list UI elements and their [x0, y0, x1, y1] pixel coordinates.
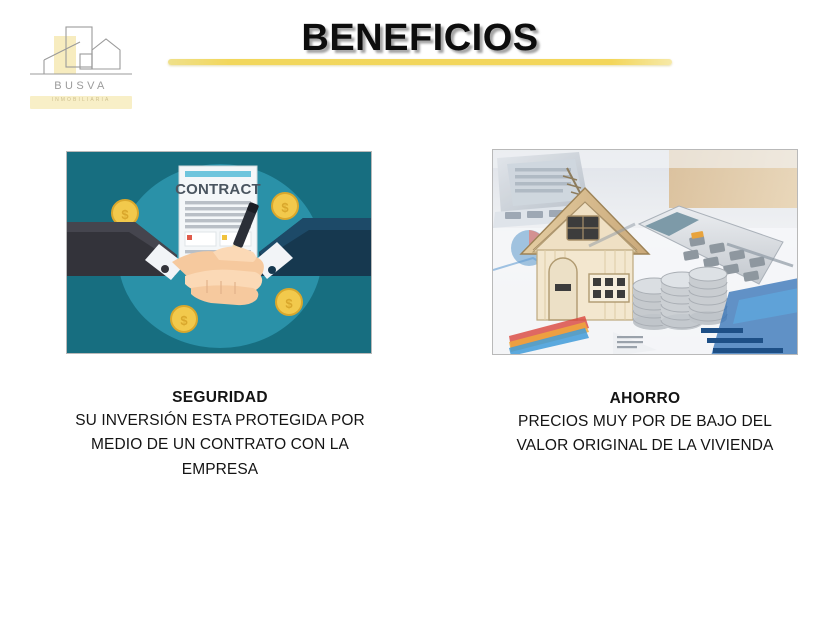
page-title: BENEFICIOS	[0, 17, 840, 60]
benefit-card-seguridad: CONTRACT	[40, 151, 400, 482]
slide-canvas: BUSVA INMOBILIARIA BENEFICIOS CONTRACT	[0, 0, 840, 630]
svg-text:$: $	[285, 296, 293, 311]
benefit-title: AHORRO	[465, 388, 825, 410]
house-model-coins-photo	[492, 149, 798, 355]
svg-text:$: $	[281, 200, 289, 215]
svg-text:$: $	[180, 313, 188, 328]
svg-text:$: $	[121, 207, 129, 222]
logo-wordmark: BUSVA	[22, 80, 140, 92]
handshake-contract-illustration: CONTRACT	[66, 151, 372, 354]
logo-subtitle: INMOBILIARIA	[30, 97, 132, 103]
benefit-body: PRECIOS MUY POR DE BAJO DEL VALOR ORIGIN…	[465, 410, 825, 458]
benefit-title: SEGURIDAD	[40, 387, 400, 409]
benefit-caption-seguridad: SEGURIDAD SU INVERSIÓN ESTA PROTEGIDA PO…	[40, 387, 400, 482]
benefit-card-ahorro: AHORRO PRECIOS MUY POR DE BAJO DEL VALOR…	[465, 149, 825, 459]
benefit-body: SU INVERSIÓN ESTA PROTEGIDA POR MEDIO DE…	[40, 409, 400, 481]
svg-text:CONTRACT: CONTRACT	[175, 181, 261, 198]
title-underline-rule	[168, 59, 672, 65]
benefit-caption-ahorro: AHORRO PRECIOS MUY POR DE BAJO DEL VALOR…	[465, 388, 825, 459]
